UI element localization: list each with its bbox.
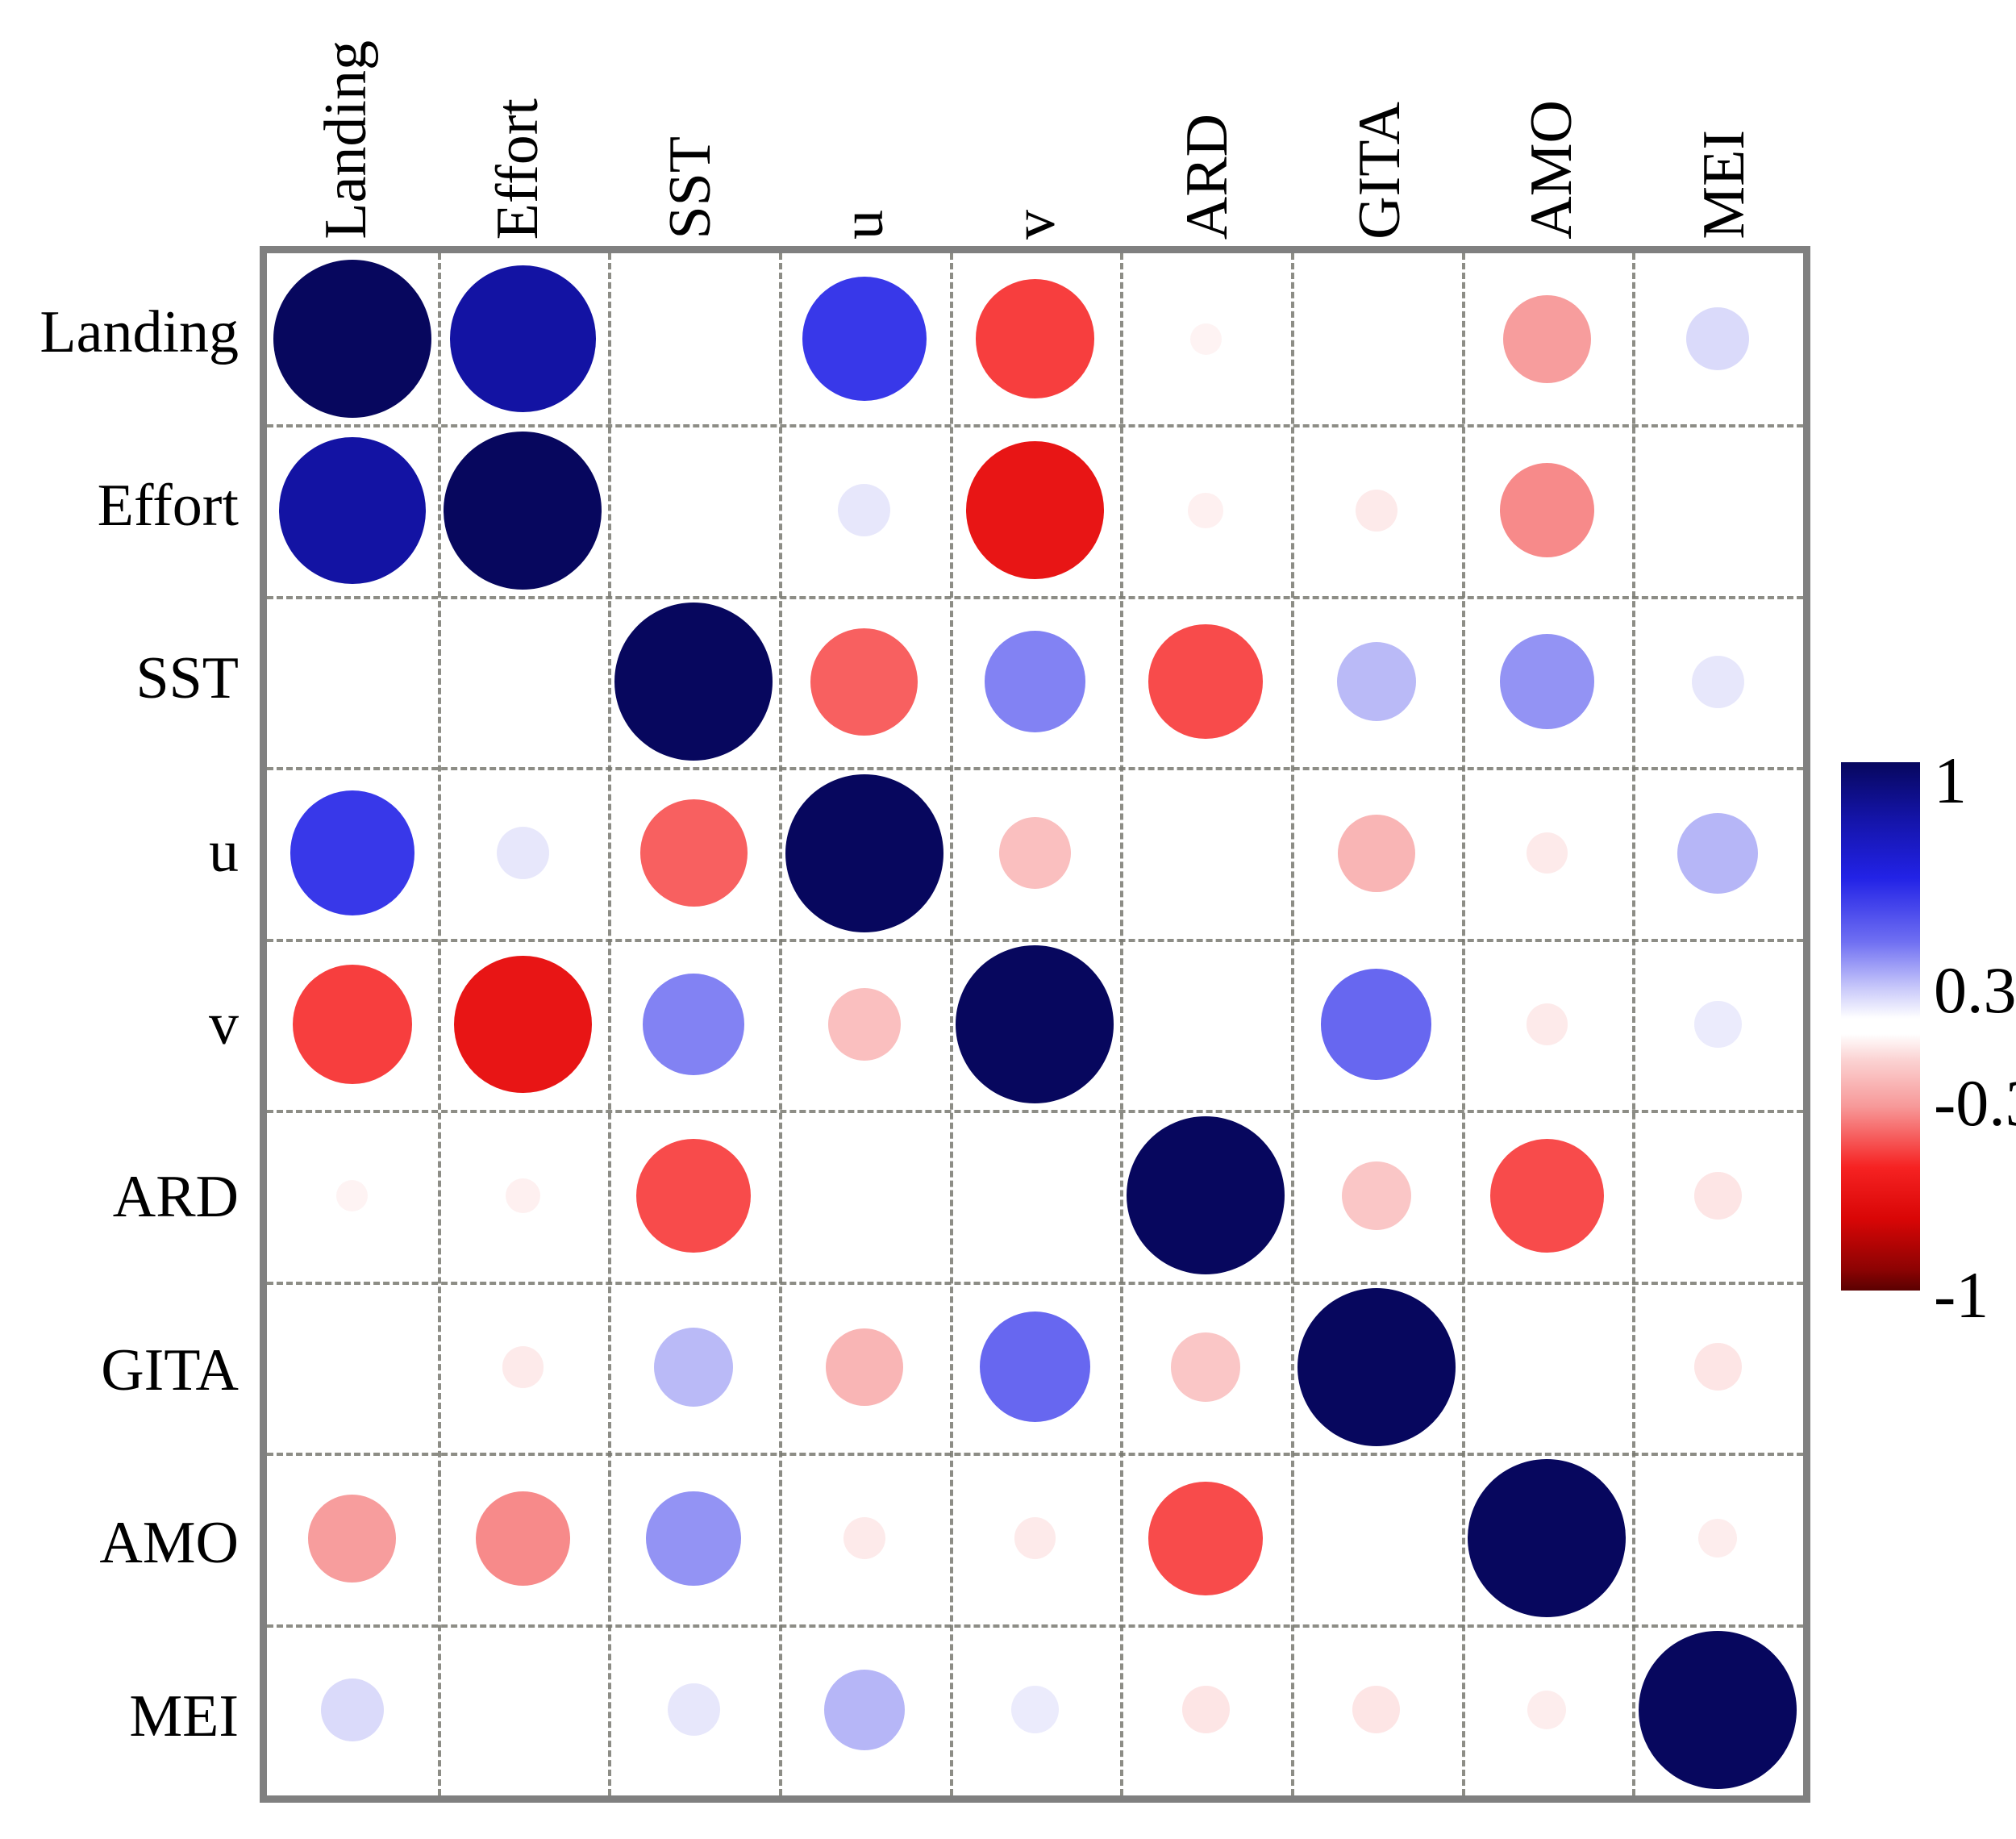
correlation-bubble	[1500, 634, 1595, 729]
correlation-bubble	[1352, 1686, 1400, 1733]
matrix-cell-ard-sst	[608, 1110, 779, 1281]
correlation-bubble	[1182, 1686, 1230, 1733]
matrix-cell-mei-v	[950, 1624, 1121, 1795]
column-label-amo: AMO	[1466, 0, 1639, 240]
correlation-bubble	[1338, 815, 1415, 892]
matrix-cell-ard-mei	[1632, 1110, 1803, 1281]
matrix-cell-landing-v	[950, 253, 1121, 424]
matrix-cell-gita-u	[779, 1282, 950, 1453]
correlation-bubble	[826, 1328, 903, 1406]
matrix-cell-effort-ard	[1120, 424, 1291, 595]
column-label-gita: GITA	[1293, 0, 1466, 240]
matrix-cell-u-sst	[608, 767, 779, 938]
matrix-cell-sst-v	[950, 596, 1121, 767]
matrix-cell-amo-v	[950, 1453, 1121, 1624]
correlation-bubble	[1639, 1631, 1797, 1789]
column-label-effort: Effort	[432, 0, 605, 240]
column-label-u: u	[777, 0, 949, 240]
column-label-sst: SST	[604, 0, 777, 240]
colorbar-tick--1: -1	[1934, 1262, 1989, 1328]
matrix-cell-sst-mei	[1632, 596, 1803, 767]
matrix-cell-amo-sst	[608, 1453, 779, 1624]
matrix-cell-landing-sst	[608, 253, 779, 424]
matrix-cell-ard-amo	[1462, 1110, 1633, 1281]
correlation-bubble	[1694, 1172, 1742, 1220]
matrix-cell-effort-v	[950, 424, 1121, 595]
column-label-text: Landing	[316, 40, 376, 240]
correlation-bubble	[1677, 813, 1758, 894]
colorbar-tick-0.3: 0.3	[1934, 957, 2016, 1024]
correlation-matrix-panel	[260, 246, 1810, 1803]
matrix-cell-ard-landing	[267, 1110, 438, 1281]
matrix-cell-mei-mei	[1632, 1624, 1803, 1795]
correlation-bubble	[1188, 493, 1223, 528]
correlation-bubble	[1527, 832, 1568, 874]
colorbar-positive-gradient	[1841, 762, 1920, 1019]
correlation-bubble	[810, 628, 918, 736]
matrix-cell-landing-effort	[438, 253, 609, 424]
correlation-bubble	[1190, 323, 1222, 355]
correlation-bubble	[444, 432, 602, 590]
correlation-matrix-figure: LandingEffortSSTuvARDGITAAMOMEI LandingE…	[0, 0, 2016, 1839]
correlation-bubble	[454, 956, 592, 1094]
matrix-cell-gita-effort	[438, 1282, 609, 1453]
correlation-bubble	[1321, 969, 1431, 1079]
correlation-bubble	[843, 1517, 885, 1559]
row-label-gita: GITA	[0, 1284, 239, 1457]
column-label-text: u	[833, 210, 893, 240]
matrix-cell-gita-mei	[1632, 1282, 1803, 1453]
matrix-cell-mei-u	[779, 1624, 950, 1795]
matrix-cell-amo-ard	[1120, 1453, 1291, 1624]
correlation-bubble	[273, 260, 431, 418]
column-label-text: v	[1005, 210, 1064, 240]
matrix-cell-sst-amo	[1462, 596, 1633, 767]
correlation-bubble	[640, 799, 748, 907]
matrix-cell-amo-amo	[1462, 1453, 1633, 1624]
correlation-bubble	[1694, 1001, 1742, 1049]
matrix-cell-ard-effort	[438, 1110, 609, 1281]
matrix-cell-u-amo	[1462, 767, 1633, 938]
matrix-cell-mei-gita	[1291, 1624, 1462, 1795]
column-label-ard: ARD	[1121, 0, 1293, 240]
matrix-cell-u-effort	[438, 767, 609, 938]
matrix-cell-effort-amo	[1462, 424, 1633, 595]
row-label-v: v	[0, 938, 239, 1111]
matrix-cell-amo-effort	[438, 1453, 609, 1624]
correlation-bubble	[1011, 1686, 1059, 1733]
matrix-cell-u-u	[779, 767, 950, 938]
matrix-cell-ard-gita	[1291, 1110, 1462, 1281]
matrix-cell-landing-mei	[1632, 253, 1803, 424]
colorbar-tick--0.3: -0.3	[1934, 1070, 2016, 1136]
matrix-cell-sst-ard	[1120, 596, 1291, 767]
correlation-bubble	[643, 974, 744, 1075]
correlation-bubble	[290, 790, 414, 915]
correlation-bubble	[1686, 307, 1749, 370]
row-label-u: u	[0, 765, 239, 937]
correlation-bubble	[828, 988, 901, 1061]
matrix-cell-landing-landing	[267, 253, 438, 424]
matrix-cell-ard-v	[950, 1110, 1121, 1281]
matrix-cell-mei-ard	[1120, 1624, 1291, 1795]
correlation-bubble	[1148, 1482, 1262, 1595]
matrix-cell-landing-u	[779, 253, 950, 424]
correlation-bubble	[308, 1495, 396, 1583]
correlation-bubble	[976, 279, 1095, 398]
correlation-bubble	[1148, 624, 1262, 738]
correlation-bubble	[476, 1491, 571, 1587]
matrix-cell-u-v	[950, 767, 1121, 938]
row-label-landing: Landing	[0, 246, 239, 419]
matrix-cell-effort-gita	[1291, 424, 1462, 595]
row-label-amo: AMO	[0, 1457, 239, 1629]
correlation-bubble	[802, 277, 927, 401]
correlation-bubble	[1014, 1517, 1056, 1559]
matrix-cell-sst-effort	[438, 596, 609, 767]
column-label-text: GITA	[1350, 102, 1410, 240]
matrix-cell-ard-ard	[1120, 1110, 1291, 1281]
correlation-bubble	[450, 265, 597, 412]
correlation-bubble	[1297, 1288, 1456, 1446]
matrix-cell-gita-amo	[1462, 1282, 1633, 1453]
matrix-cell-effort-landing	[267, 424, 438, 595]
matrix-cell-u-gita	[1291, 767, 1462, 938]
matrix-cell-landing-ard	[1120, 253, 1291, 424]
correlation-bubble	[1527, 1003, 1568, 1045]
correlation-bubble	[1527, 1691, 1566, 1729]
correlation-bubble	[966, 441, 1104, 579]
colorbar-legend: 1 0.3 -0.3 -1	[1841, 762, 1920, 1291]
matrix-cell-effort-mei	[1632, 424, 1803, 595]
column-label-text: ARD	[1177, 114, 1237, 240]
correlation-bubble	[824, 1670, 905, 1750]
correlation-bubble	[985, 631, 1086, 732]
row-label-mei: MEI	[0, 1630, 239, 1803]
colorbar-negative-gradient	[1841, 1034, 1920, 1291]
matrix-cell-v-mei	[1632, 939, 1803, 1110]
correlation-bubble	[668, 1683, 720, 1736]
correlation-bubble	[279, 437, 426, 584]
matrix-cell-ard-u	[779, 1110, 950, 1281]
correlation-bubble	[646, 1491, 741, 1587]
matrix-plot-area	[267, 253, 1803, 1795]
matrix-cell-sst-landing	[267, 596, 438, 767]
column-label-mei: MEI	[1638, 0, 1810, 240]
matrix-cell-mei-landing	[267, 1624, 438, 1795]
row-label-effort: Effort	[0, 419, 239, 591]
matrix-cell-u-mei	[1632, 767, 1803, 938]
matrix-cell-v-sst	[608, 939, 779, 1110]
matrix-cell-mei-amo	[1462, 1624, 1633, 1795]
column-label-text: Effort	[488, 98, 548, 240]
column-label-text: SST	[660, 136, 720, 240]
correlation-bubble	[956, 945, 1114, 1103]
column-label-landing: Landing	[260, 0, 432, 240]
matrix-cell-mei-effort	[438, 1624, 609, 1795]
matrix-cell-gita-ard	[1120, 1282, 1291, 1453]
correlation-bubble	[336, 1180, 368, 1211]
correlation-bubble	[1356, 490, 1397, 532]
matrix-cell-sst-u	[779, 596, 950, 767]
column-label-row: LandingEffortSSTuvARDGITAAMOMEI	[260, 0, 1810, 246]
matrix-cell-u-ard	[1120, 767, 1291, 938]
matrix-cell-landing-gita	[1291, 253, 1462, 424]
correlation-bubble	[614, 603, 773, 761]
correlation-bubble	[293, 965, 412, 1084]
correlation-bubble	[999, 817, 1072, 890]
column-label-text: MEI	[1694, 130, 1754, 240]
correlation-bubble	[1692, 656, 1744, 708]
correlation-bubble	[502, 1346, 544, 1388]
matrix-cell-v-gita	[1291, 939, 1462, 1110]
correlation-bubble	[1698, 1519, 1737, 1558]
correlation-bubble	[785, 774, 943, 932]
matrix-cell-effort-sst	[608, 424, 779, 595]
matrix-cell-v-v	[950, 939, 1121, 1110]
correlation-bubble	[636, 1139, 750, 1253]
correlation-bubble	[1490, 1139, 1604, 1253]
matrix-cell-v-effort	[438, 939, 609, 1110]
matrix-cell-mei-sst	[608, 1624, 779, 1795]
correlation-bubble	[980, 1311, 1090, 1422]
matrix-cell-v-amo	[1462, 939, 1633, 1110]
matrix-cell-v-landing	[267, 939, 438, 1110]
column-label-v: v	[949, 0, 1122, 240]
row-label-ard: ARD	[0, 1111, 239, 1283]
matrix-cell-sst-gita	[1291, 596, 1462, 767]
matrix-cell-u-landing	[267, 767, 438, 938]
correlation-bubble	[654, 1328, 733, 1407]
matrix-cell-amo-mei	[1632, 1453, 1803, 1624]
correlation-bubble	[1127, 1116, 1285, 1274]
correlation-bubble	[321, 1678, 384, 1741]
matrix-cell-effort-effort	[438, 424, 609, 595]
matrix-cell-v-u	[779, 939, 950, 1110]
matrix-cell-gita-v	[950, 1282, 1121, 1453]
correlation-bubble	[1468, 1459, 1626, 1617]
correlation-bubble	[506, 1178, 541, 1214]
matrix-cell-gita-landing	[267, 1282, 438, 1453]
row-label-column: LandingEffortSSTuvARDGITAAMOMEI	[0, 246, 255, 1803]
correlation-bubble	[1500, 463, 1595, 558]
correlation-bubble	[1337, 642, 1416, 721]
matrix-cell-v-ard	[1120, 939, 1291, 1110]
matrix-cell-amo-u	[779, 1453, 950, 1624]
matrix-cell-amo-landing	[267, 1453, 438, 1624]
colorbar-tick-1: 1	[1934, 748, 1967, 814]
correlation-bubble	[838, 484, 890, 536]
matrix-cell-gita-gita	[1291, 1282, 1462, 1453]
matrix-cell-gita-sst	[608, 1282, 779, 1453]
matrix-cell-sst-sst	[608, 596, 779, 767]
correlation-bubble	[1694, 1343, 1742, 1391]
correlation-bubble	[1342, 1161, 1410, 1230]
matrix-cell-effort-u	[779, 424, 950, 595]
matrix-cell-amo-gita	[1291, 1453, 1462, 1624]
correlation-bubble	[1171, 1332, 1239, 1401]
column-label-text: AMO	[1522, 100, 1581, 240]
correlation-bubble	[1503, 295, 1591, 383]
matrix-cell-landing-amo	[1462, 253, 1633, 424]
row-label-sst: SST	[0, 592, 239, 765]
correlation-bubble	[497, 827, 549, 879]
